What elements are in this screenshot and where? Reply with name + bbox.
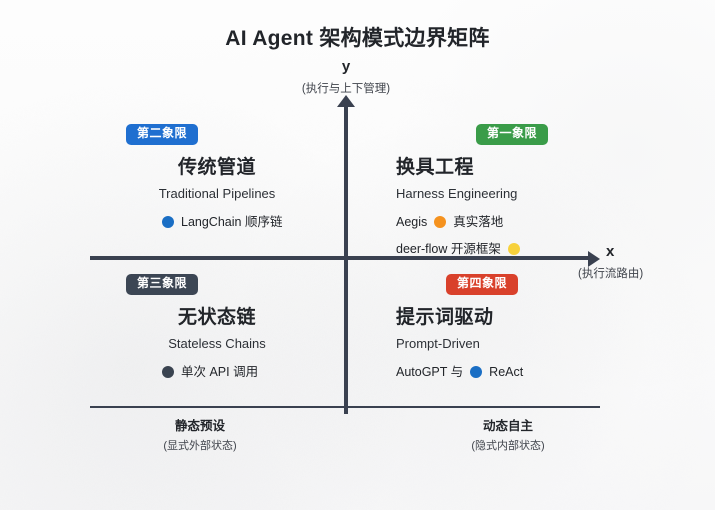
quadrant-1-item-list: Aegis 真实落地 deer-flow 开源框架 [396, 213, 548, 258]
list-item: deer-flow 开源框架 [396, 240, 548, 258]
quadrant-3-item-list: 单次 API 调用 [162, 363, 302, 381]
quadrant-2-title-en: Traditional Pipelines [132, 186, 302, 202]
y-axis-arrowhead-icon [337, 95, 355, 107]
footer-left: 静态预设 (显式外部状态) [120, 418, 280, 454]
list-item: AutoGPT 与 ReAct [396, 363, 523, 381]
page-title: AI Agent 架构模式边界矩阵 [0, 22, 715, 52]
list-item-label: LangChain 顺序链 [181, 213, 282, 231]
quadrant-1-title-cn: 换具工程 [396, 157, 548, 180]
quadrant-2: 第二象限 传统管道 Traditional Pipelines LangChai… [126, 124, 302, 240]
bullet-dot-dark-icon [162, 366, 174, 378]
y-axis-sublabel: (执行与上下管理) [0, 80, 692, 96]
baseline-rule [90, 406, 600, 408]
footer-right-sub: (隐式内部状态) [428, 439, 588, 453]
list-item-label: ReAct [489, 363, 523, 381]
list-item: 单次 API 调用 [162, 363, 302, 381]
x-axis-sublabel: (执行流路由) [578, 265, 643, 281]
bullet-dot-orange-icon [434, 216, 446, 228]
quadrant-3-badge: 第三象限 [126, 274, 198, 295]
quadrant-3-title-cn: 无状态链 [132, 307, 302, 330]
matrix-canvas: AI Agent 架构模式边界矩阵 y (执行与上下管理) x (执行流路由) … [0, 0, 715, 510]
footer-left-sub: (显式外部状态) [120, 439, 280, 453]
quadrant-2-title-cn: 传统管道 [132, 157, 302, 180]
quadrant-4-badge: 第四象限 [446, 274, 518, 295]
list-item-label: 单次 API 调用 [181, 363, 258, 381]
list-item: LangChain 顺序链 [162, 213, 302, 231]
quadrant-3-badge-row: 第三象限 [126, 274, 302, 295]
bullet-dot-blue-icon [162, 216, 174, 228]
quadrant-4-item-list: AutoGPT 与 ReAct [396, 363, 523, 381]
quadrant-1-badge: 第一象限 [476, 124, 548, 145]
quadrant-2-badge-row: 第二象限 [126, 124, 302, 145]
list-item-label: 真实落地 [453, 213, 503, 231]
footer-right-main: 动态自主 [428, 418, 588, 434]
list-item-prefix: deer-flow 开源框架 [396, 240, 501, 258]
footer-right: 动态自主 (隐式内部状态) [428, 418, 588, 454]
quadrant-1: 第一象限 换具工程 Harness Engineering Aegis 真实落地… [396, 124, 548, 267]
y-axis-label: y [0, 58, 692, 75]
quadrant-3: 第三象限 无状态链 Stateless Chains 单次 API 调用 [126, 274, 302, 390]
quadrant-1-title-en: Harness Engineering [396, 186, 548, 202]
x-axis-label: x [606, 243, 614, 260]
quadrant-4-title-en: Prompt-Driven [396, 336, 523, 352]
footer-left-main: 静态预设 [120, 418, 280, 434]
list-item-prefix: AutoGPT 与 [396, 363, 463, 381]
list-item: Aegis 真实落地 [396, 213, 548, 231]
list-item-prefix: Aegis [396, 213, 427, 231]
bullet-dot-yellow-icon [508, 243, 520, 255]
quadrant-4: 第四象限 提示词驱动 Prompt-Driven AutoGPT 与 ReAct [396, 274, 523, 390]
quadrant-3-title-en: Stateless Chains [132, 336, 302, 352]
quadrant-2-badge: 第二象限 [126, 124, 198, 145]
quadrant-4-title-cn: 提示词驱动 [396, 307, 523, 330]
quadrant-2-item-list: LangChain 顺序链 [162, 213, 302, 231]
quadrant-1-badge-row: 第一象限 [396, 124, 548, 145]
bullet-dot-blue-icon [470, 366, 482, 378]
quadrant-4-badge-row: 第四象限 [396, 274, 518, 295]
